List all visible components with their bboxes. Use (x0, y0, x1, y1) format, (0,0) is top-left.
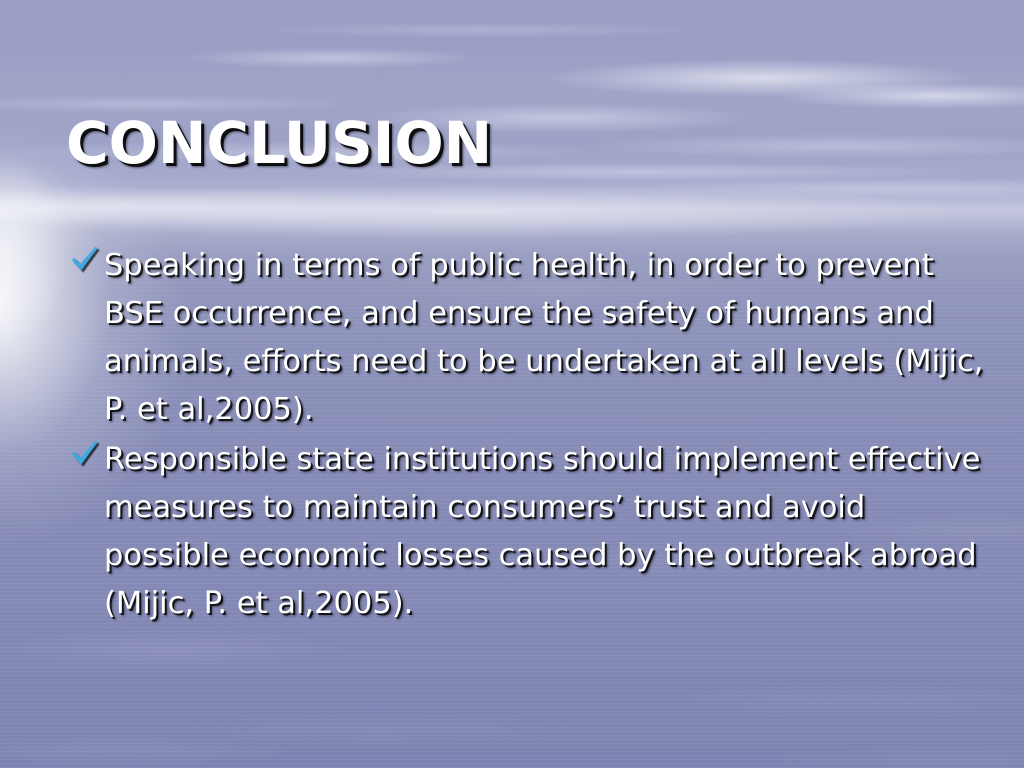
slide-title: CONCLUSION (66, 113, 492, 174)
slide-content: CONCLUSION Speaking in terms of public h… (0, 0, 1024, 768)
bullet-list: Speaking in terms of public health, in o… (66, 242, 986, 630)
check-icon (70, 245, 100, 275)
list-item-label: Responsible state institutions should im… (104, 436, 986, 628)
slide-canvas: CONCLUSION Speaking in terms of public h… (0, 0, 1024, 768)
list-item: Speaking in terms of public health, in o… (66, 242, 986, 434)
list-item-label: Speaking in terms of public health, in o… (104, 242, 986, 434)
list-item: Responsible state institutions should im… (66, 436, 986, 628)
check-icon (70, 439, 100, 469)
